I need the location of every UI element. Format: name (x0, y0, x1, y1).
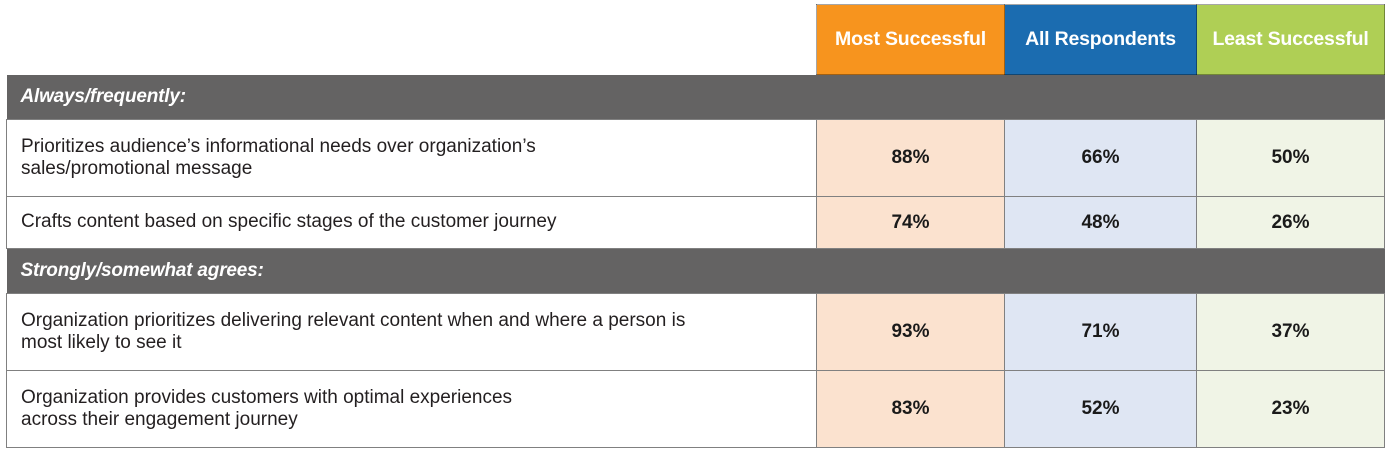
column-header-all-respondents: All Respondents (1005, 5, 1197, 75)
row-label: Prioritizes audience’s informational nee… (7, 120, 817, 197)
section-band-label-always-frequently: Always/frequently: (7, 75, 1385, 120)
value-all-respondents: 52% (1005, 371, 1197, 448)
value-most-successful: 93% (817, 294, 1005, 371)
row-label-line: across their engagement journey (21, 409, 804, 431)
row-label-line: Prioritizes audience’s informational nee… (21, 136, 804, 158)
column-header-least-successful: Least Successful (1197, 5, 1385, 75)
table-row: Prioritizes audience’s informational nee… (7, 120, 1385, 197)
value-all-respondents: 71% (1005, 294, 1197, 371)
table-row: Organization prioritizes delivering rele… (7, 294, 1385, 371)
row-label-line: Crafts content based on specific stages … (21, 211, 804, 233)
value-least-successful: 37% (1197, 294, 1385, 371)
row-label-line: Organization prioritizes delivering rele… (21, 310, 804, 332)
value-most-successful: 83% (817, 371, 1005, 448)
value-most-successful: 74% (817, 197, 1005, 249)
value-least-successful: 26% (1197, 197, 1385, 249)
value-all-respondents: 66% (1005, 120, 1197, 197)
row-label: Organization provides customers with opt… (7, 371, 817, 448)
section-band-row: Strongly/somewhat agrees: (7, 249, 1385, 294)
section-band-label-strongly-somewhat-agrees: Strongly/somewhat agrees: (7, 249, 1385, 294)
table-body: Always/frequently: Prioritizes audience’… (7, 75, 1385, 448)
section-band-row: Always/frequently: (7, 75, 1385, 120)
row-label: Crafts content based on specific stages … (7, 197, 817, 249)
value-least-successful: 23% (1197, 371, 1385, 448)
survey-results-table: Most Successful All Respondents Least Su… (0, 0, 1396, 452)
value-all-respondents: 48% (1005, 197, 1197, 249)
results-table: Most Successful All Respondents Least Su… (6, 4, 1385, 448)
table-row: Organization provides customers with opt… (7, 371, 1385, 448)
row-label-line: most likely to see it (21, 332, 804, 354)
column-header-most-successful: Most Successful (817, 5, 1005, 75)
table-row: Crafts content based on specific stages … (7, 197, 1385, 249)
table-header: Most Successful All Respondents Least Su… (7, 5, 1385, 75)
header-corner-cell (7, 5, 817, 75)
row-label-line: sales/promotional message (21, 158, 804, 180)
value-least-successful: 50% (1197, 120, 1385, 197)
row-label-line: Organization provides customers with opt… (21, 387, 804, 409)
row-label: Organization prioritizes delivering rele… (7, 294, 817, 371)
header-row: Most Successful All Respondents Least Su… (7, 5, 1385, 75)
value-most-successful: 88% (817, 120, 1005, 197)
